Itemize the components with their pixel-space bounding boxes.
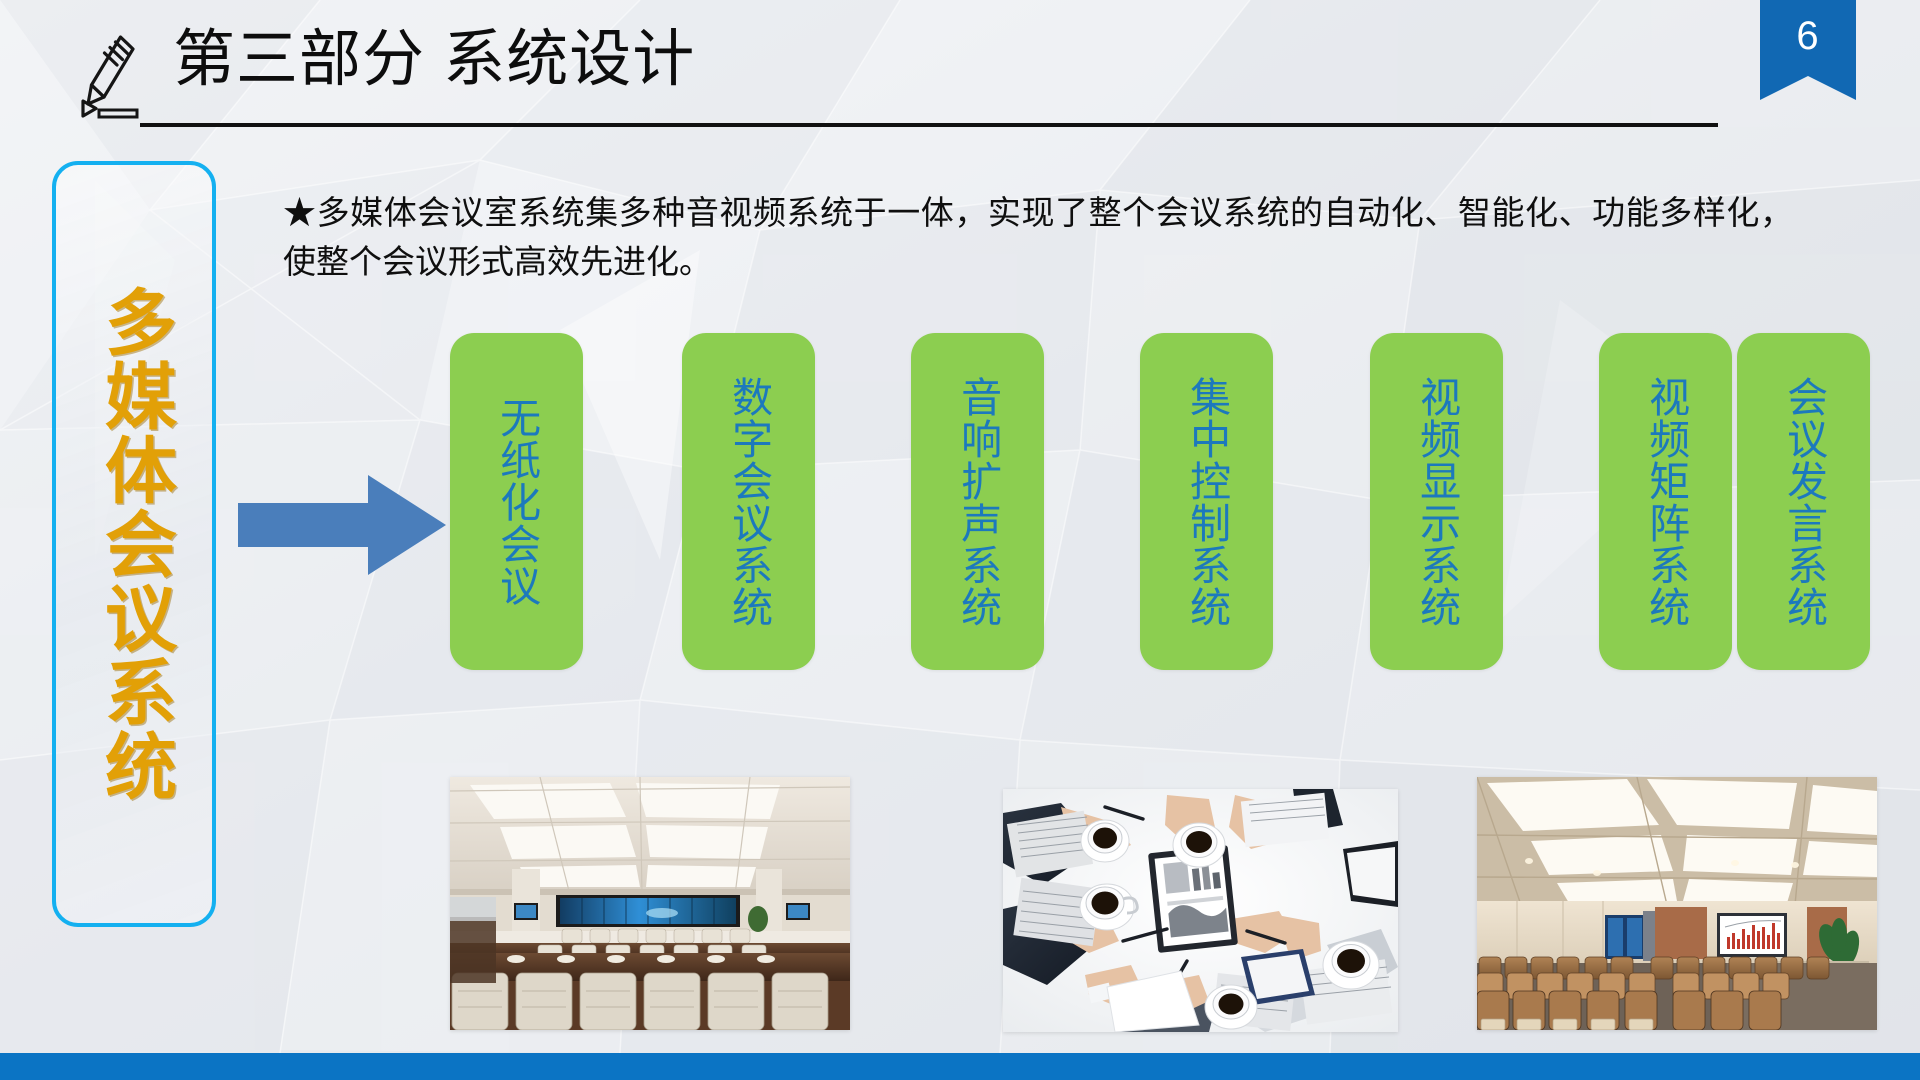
subsystem-card-row: 无纸化会议 数字会议系统 音响扩声系统 集中控制系统 视频显示系统 视频矩阵系统… [450, 333, 1870, 743]
conference-hall-video-wall-photo [450, 777, 850, 1030]
body-paragraph: ★多媒体会议室系统集多种音视频系统于一体，实现了整个会议系统的自动化、智能化、功… [283, 188, 1793, 286]
subsystem-card-label: 会议发言系统 [1737, 333, 1870, 670]
page-title: 第三部分 系统设计 [173, 21, 695, 99]
subsystem-card-4[interactable]: 集中控制系统 [1140, 333, 1273, 670]
subsystem-card-3[interactable]: 音响扩声系统 [911, 333, 1044, 670]
subsystem-card-label: 无纸化会议 [450, 333, 583, 670]
subsystem-card-1[interactable]: 无纸化会议 [450, 333, 583, 670]
system-name-label: 多媒体会议系统 [56, 165, 212, 923]
subsystem-card-label: 数字会议系统 [682, 333, 815, 670]
slide-canvas: 6 第三部分 系统设计 多媒体会议系统 ★多媒体会议室系统集多种音视频系统于一体… [0, 0, 1920, 1080]
subsystem-card-7[interactable]: 会议发言系统 [1737, 333, 1870, 670]
subsystem-card-label: 视频矩阵系统 [1599, 333, 1732, 670]
footer-bar [0, 1053, 1920, 1080]
auditorium-projection-photo [1477, 777, 1877, 1030]
subsystem-card-5[interactable]: 视频显示系统 [1370, 333, 1503, 670]
system-name-panel: 多媒体会议系统 [52, 161, 216, 927]
subsystem-card-label: 音响扩声系统 [911, 333, 1044, 670]
business-meeting-topdown-photo [1003, 789, 1398, 1032]
title-underline [140, 123, 1718, 127]
subsystem-card-label: 视频显示系统 [1370, 333, 1503, 670]
subsystem-card-6[interactable]: 视频矩阵系统 [1599, 333, 1732, 670]
page-number-ribbon: 6 [1760, 0, 1856, 100]
subsystem-card-2[interactable]: 数字会议系统 [682, 333, 815, 670]
right-arrow-icon [238, 473, 446, 577]
subsystem-card-label: 集中控制系统 [1140, 333, 1273, 670]
pencil-icon [74, 28, 140, 124]
page-number: 6 [1760, 14, 1856, 59]
